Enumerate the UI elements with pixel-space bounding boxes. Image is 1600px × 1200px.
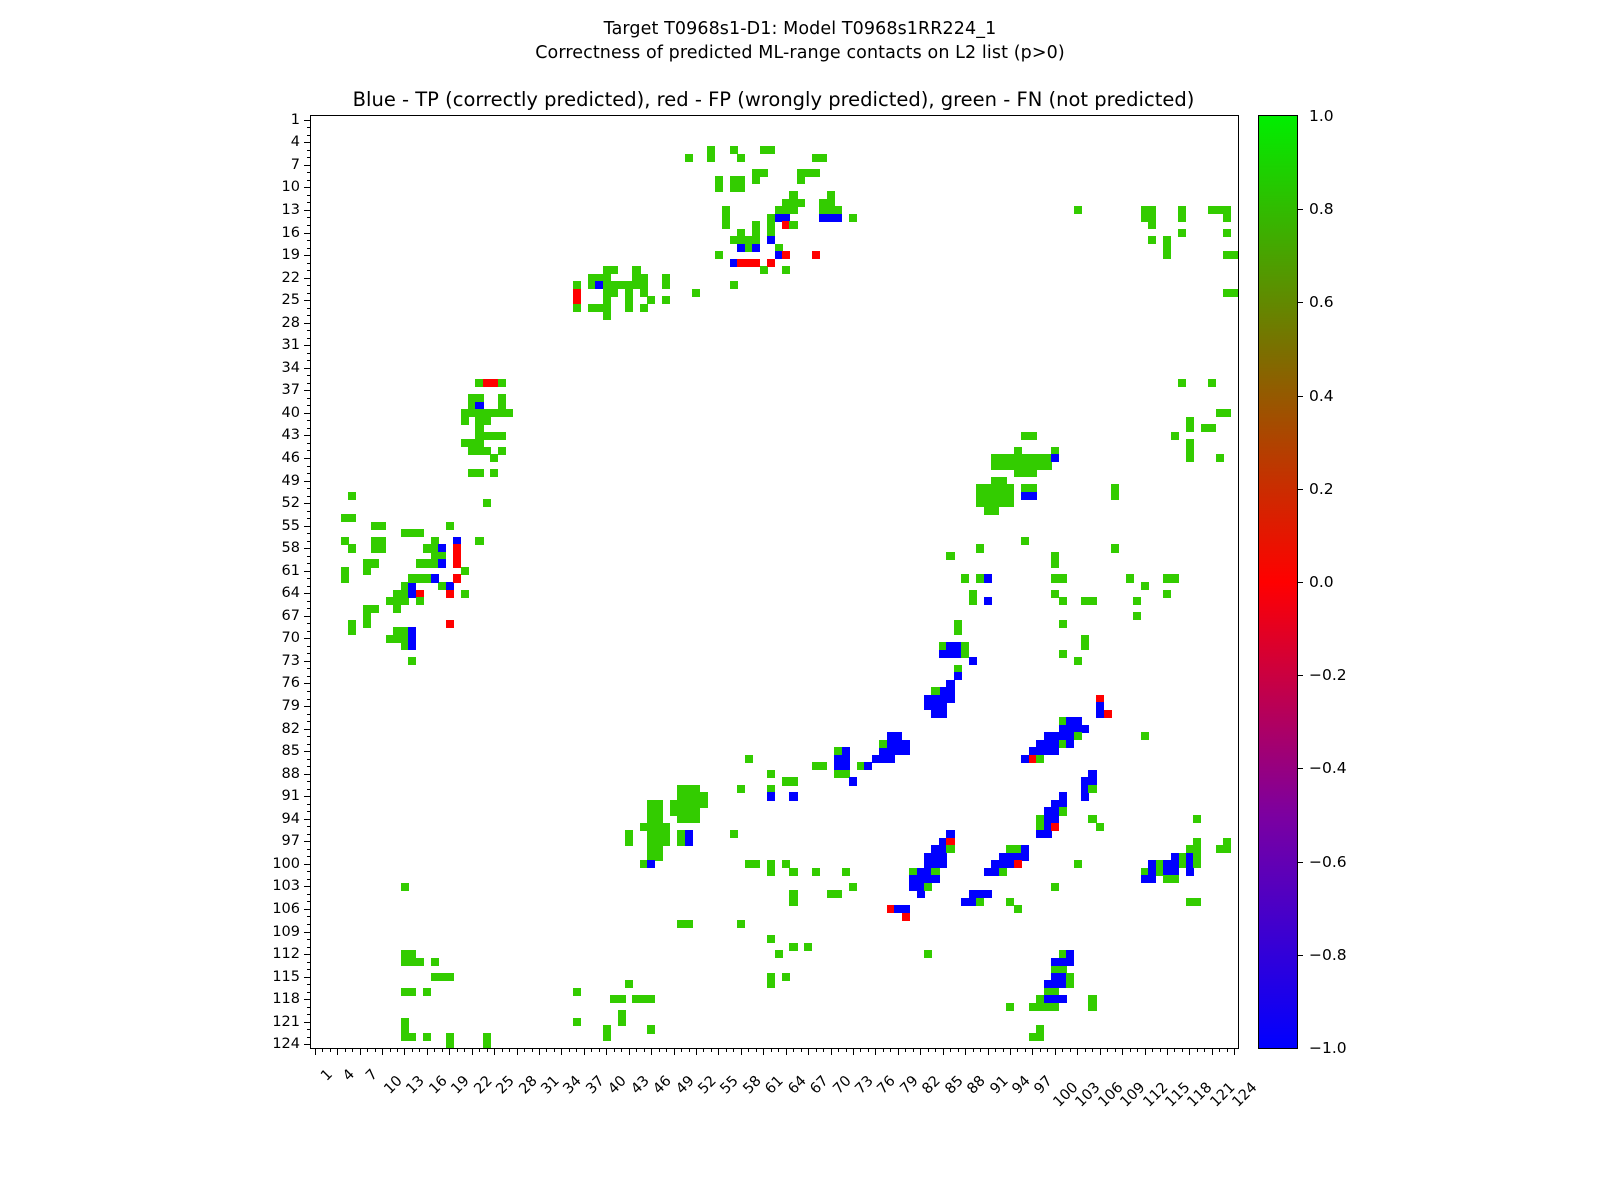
y-tick — [307, 1007, 311, 1008]
contact-cell — [782, 860, 790, 868]
contact-cell — [1014, 860, 1022, 868]
y-tick-label: 118 — [272, 991, 300, 1007]
x-tick-label: 82 — [920, 1073, 944, 1097]
x-tick — [472, 1048, 473, 1055]
x-tick — [868, 1048, 869, 1052]
contact-cell — [1096, 710, 1104, 718]
contact-cell — [730, 146, 738, 154]
y-tick — [307, 202, 311, 203]
x-tick-label: 19 — [449, 1073, 473, 1097]
y-tick-label: 13 — [282, 202, 300, 218]
contact-cell — [662, 281, 670, 289]
contact-cell — [408, 642, 416, 650]
contact-cell — [573, 1018, 581, 1026]
y-tick — [307, 1029, 311, 1030]
x-tick — [808, 1048, 809, 1055]
contact-cell — [1148, 221, 1156, 229]
colorbar-tick-label: 0.4 — [1309, 387, 1334, 405]
y-tick — [307, 180, 311, 181]
colorbar-tick — [1297, 209, 1303, 210]
y-tick — [307, 541, 311, 542]
y-tick — [307, 473, 311, 474]
contact-cell — [431, 958, 439, 966]
contact-cell — [1021, 537, 1029, 545]
x-tick-label: 52 — [695, 1073, 719, 1097]
contact-cell — [1036, 1033, 1044, 1041]
contact-cell — [1074, 732, 1082, 740]
contact-cell — [1223, 229, 1231, 237]
contact-cell — [423, 988, 431, 996]
contact-cell — [819, 762, 827, 770]
y-tick — [307, 916, 311, 917]
y-tick-label: 76 — [282, 675, 300, 691]
contact-cell — [1163, 251, 1171, 259]
contact-cell — [371, 559, 379, 567]
contact-cell — [1051, 454, 1059, 462]
contact-cell — [864, 762, 872, 770]
y-tick — [307, 924, 311, 925]
x-tick — [382, 1048, 383, 1055]
x-tick — [1130, 1048, 1131, 1052]
y-tick — [304, 142, 311, 143]
y-tick — [307, 947, 311, 948]
y-tick — [307, 195, 311, 196]
x-tick — [943, 1048, 944, 1055]
contact-cell — [954, 627, 962, 635]
x-tick-label: 22 — [471, 1073, 495, 1097]
contact-cell — [752, 176, 760, 184]
colorbar-tick — [1297, 582, 1303, 583]
x-tick — [898, 1048, 899, 1055]
x-tick — [1070, 1048, 1071, 1052]
x-tick-label: 4 — [340, 1067, 358, 1085]
contact-cell — [416, 958, 424, 966]
contact-cell — [446, 620, 454, 628]
x-tick — [1227, 1048, 1228, 1052]
contact-cell — [1163, 590, 1171, 598]
contact-cell — [1051, 883, 1059, 891]
x-tick — [442, 1048, 443, 1052]
x-tick — [763, 1048, 764, 1055]
x-tick — [419, 1048, 420, 1052]
colorbar-tick-label: 0.6 — [1309, 293, 1334, 311]
x-tick — [1137, 1048, 1138, 1052]
y-tick — [307, 420, 311, 421]
x-tick — [345, 1048, 346, 1052]
contact-cell — [1133, 597, 1141, 605]
y-tick — [304, 886, 311, 887]
contact-cell — [401, 883, 409, 891]
x-tick — [367, 1048, 368, 1052]
x-tick-label: 94 — [1009, 1073, 1033, 1097]
contact-cell — [767, 980, 775, 988]
y-tick — [307, 405, 311, 406]
contact-map-figure: Target T0968s1-D1: Model T0968s1RR224_1 … — [0, 0, 1600, 1200]
colorbar-tick-label: 1.0 — [1309, 107, 1334, 125]
y-tick — [304, 864, 311, 865]
x-tick — [390, 1048, 391, 1052]
x-tick-label: 31 — [538, 1073, 562, 1097]
colorbar-tick-label: −0.2 — [1309, 666, 1347, 684]
contact-cell — [767, 868, 775, 876]
contact-cell — [804, 943, 812, 951]
contact-cell — [789, 792, 797, 800]
contact-cell — [812, 868, 820, 876]
y-tick-label: 19 — [282, 247, 300, 263]
y-tick — [307, 450, 311, 451]
x-tick-label: 28 — [516, 1073, 540, 1097]
contact-cell — [416, 597, 424, 605]
x-tick — [360, 1048, 361, 1055]
contact-cell — [1088, 785, 1096, 793]
y-tick — [304, 323, 311, 324]
y-tick — [307, 714, 311, 715]
x-tick — [703, 1048, 704, 1052]
y-tick-label: 100 — [272, 856, 300, 872]
x-tick — [479, 1048, 480, 1052]
contact-cell — [692, 289, 700, 297]
x-tick — [1122, 1048, 1123, 1055]
y-tick — [307, 1014, 311, 1015]
contact-cell — [1231, 251, 1238, 259]
contact-cell — [401, 597, 409, 605]
contact-cell — [1059, 807, 1067, 815]
x-tick — [584, 1048, 585, 1055]
contact-map-plot-area[interactable]: 1471013161922252831343740434649525558616… — [310, 115, 1239, 1049]
y-tick — [307, 578, 311, 579]
y-tick-label: 7 — [291, 157, 300, 173]
y-tick — [307, 135, 311, 136]
contact-cell — [1021, 462, 1029, 470]
x-tick — [1174, 1048, 1175, 1052]
y-tick-label: 94 — [282, 811, 300, 827]
y-tick — [307, 375, 311, 376]
x-tick — [756, 1048, 757, 1052]
contact-map-cells — [311, 116, 1238, 1048]
y-tick — [307, 217, 311, 218]
contact-cell — [1006, 499, 1014, 507]
contact-cell — [625, 838, 633, 846]
contact-cell — [1178, 214, 1186, 222]
y-tick — [307, 353, 311, 354]
contact-cell — [789, 868, 797, 876]
contact-cell — [461, 417, 469, 425]
x-tick — [397, 1048, 398, 1052]
contact-cell — [1074, 860, 1082, 868]
y-tick — [307, 879, 311, 880]
x-tick — [1032, 1048, 1033, 1055]
colorbar-tick-label: −0.4 — [1309, 759, 1347, 777]
contact-cell — [849, 214, 857, 222]
y-tick-label: 115 — [272, 969, 300, 985]
y-tick-label: 61 — [282, 563, 300, 579]
contact-cell — [887, 755, 895, 763]
y-tick — [304, 503, 311, 504]
x-tick — [1040, 1048, 1041, 1052]
contact-cell — [1036, 755, 1044, 763]
y-tick-label: 1 — [291, 112, 300, 128]
contact-cell — [446, 522, 454, 530]
contact-cell — [1208, 379, 1216, 387]
contact-cell — [483, 1040, 491, 1048]
contact-cell — [902, 905, 910, 913]
contact-cell — [782, 266, 790, 274]
contact-cell — [1021, 853, 1029, 861]
contact-cell — [797, 176, 805, 184]
contact-cell — [453, 559, 461, 567]
x-tick — [831, 1048, 832, 1055]
contact-cell — [737, 920, 745, 928]
contact-cell — [976, 544, 984, 552]
y-tick — [307, 781, 311, 782]
y-tick — [307, 744, 311, 745]
y-tick — [307, 496, 311, 497]
y-tick — [304, 661, 311, 662]
contact-cell — [760, 169, 768, 177]
contact-cell — [1103, 710, 1111, 718]
contact-cell — [573, 304, 581, 312]
y-tick — [307, 225, 311, 226]
y-tick-label: 64 — [282, 585, 300, 601]
contact-cell — [730, 830, 738, 838]
x-tick — [711, 1048, 712, 1052]
y-tick — [307, 338, 311, 339]
x-tick — [1212, 1048, 1213, 1055]
contact-cell — [789, 943, 797, 951]
contact-cell — [1193, 815, 1201, 823]
y-tick — [307, 962, 311, 963]
y-tick-label: 109 — [272, 924, 300, 940]
x-tick — [509, 1048, 510, 1052]
y-tick — [304, 706, 311, 707]
y-tick — [307, 691, 311, 692]
contact-cell — [1006, 1003, 1014, 1011]
y-tick — [307, 856, 311, 857]
contact-cell — [341, 537, 349, 545]
contact-cell — [879, 740, 887, 748]
y-tick-label: 22 — [282, 270, 300, 286]
contact-cell — [498, 447, 506, 455]
contact-cell — [692, 815, 700, 823]
y-tick — [307, 631, 311, 632]
contact-cell — [931, 687, 939, 695]
contact-cell — [946, 845, 954, 853]
contact-cell — [1029, 432, 1037, 440]
contact-cell — [1186, 454, 1194, 462]
y-tick — [304, 120, 311, 121]
contact-cell — [1029, 469, 1037, 477]
x-tick — [457, 1048, 458, 1052]
y-tick — [307, 676, 311, 677]
x-tick — [1055, 1048, 1056, 1055]
x-tick — [778, 1048, 779, 1052]
y-tick — [307, 849, 311, 850]
contact-cell — [461, 567, 469, 575]
y-tick — [304, 233, 311, 234]
y-tick-label: 58 — [282, 540, 300, 556]
y-tick — [304, 1044, 311, 1045]
y-tick-label: 49 — [282, 473, 300, 489]
y-tick — [304, 954, 311, 955]
contact-cell — [760, 266, 768, 274]
contact-cell — [408, 1033, 416, 1041]
y-tick — [307, 586, 311, 587]
x-tick-label: 13 — [404, 1073, 428, 1097]
contact-cell — [797, 199, 805, 207]
contact-cell — [1014, 905, 1022, 913]
contact-cell — [348, 492, 356, 500]
contact-cell — [767, 770, 775, 778]
y-tick-label: 40 — [282, 405, 300, 421]
x-tick — [838, 1048, 839, 1052]
x-tick-label: 73 — [852, 1073, 876, 1097]
contact-cell — [446, 1040, 454, 1048]
contact-cell — [446, 590, 454, 598]
contact-cell — [393, 605, 401, 613]
x-tick — [322, 1048, 323, 1052]
x-tick — [517, 1048, 518, 1055]
contact-cell — [1148, 236, 1156, 244]
x-tick — [375, 1048, 376, 1052]
x-tick-label: 40 — [606, 1073, 630, 1097]
y-tick — [307, 398, 311, 399]
y-tick-label: 28 — [282, 315, 300, 331]
x-tick — [696, 1048, 697, 1055]
contact-cell — [1216, 454, 1224, 462]
x-tick — [532, 1048, 533, 1052]
y-tick — [307, 248, 311, 249]
contact-cell — [789, 898, 797, 906]
contact-cell — [812, 251, 820, 259]
y-tick — [304, 909, 311, 910]
x-tick — [733, 1048, 734, 1052]
contact-cell — [348, 544, 356, 552]
y-tick — [307, 315, 311, 316]
y-tick — [304, 526, 311, 527]
colorbar-tick — [1297, 768, 1303, 769]
colorbar[interactable]: 1.00.80.60.40.20.0−0.2−0.4−0.6−0.8−1.0 — [1258, 115, 1298, 1049]
colorbar-tick-label: 0.2 — [1309, 480, 1334, 498]
x-tick — [1107, 1048, 1108, 1052]
contact-cell — [1171, 432, 1179, 440]
contact-cell — [842, 868, 850, 876]
y-tick — [307, 939, 311, 940]
y-tick-label: 112 — [272, 946, 300, 962]
y-tick — [307, 766, 311, 767]
x-tick — [412, 1048, 413, 1052]
contact-cell — [625, 980, 633, 988]
y-tick — [307, 488, 311, 489]
y-tick — [304, 345, 311, 346]
contact-cell — [1193, 898, 1201, 906]
x-tick — [1152, 1048, 1153, 1052]
x-tick — [689, 1048, 690, 1052]
contact-cell — [812, 169, 820, 177]
y-tick — [307, 653, 311, 654]
y-tick — [307, 721, 311, 722]
y-tick-label: 34 — [282, 360, 300, 376]
y-tick — [307, 608, 311, 609]
contact-cell — [1081, 725, 1089, 733]
x-tick — [771, 1048, 772, 1052]
x-tick-label: 46 — [650, 1073, 674, 1097]
y-tick — [307, 826, 311, 827]
contact-cell — [423, 1033, 431, 1041]
y-tick — [307, 563, 311, 564]
colorbar-tick-label: −1.0 — [1309, 1039, 1347, 1057]
y-tick — [304, 999, 311, 1000]
contact-cell — [752, 244, 760, 252]
contact-cell — [917, 890, 925, 898]
x-tick — [427, 1048, 428, 1055]
contact-cell — [461, 590, 469, 598]
y-tick-label: 4 — [291, 134, 300, 150]
contact-cell — [505, 409, 513, 417]
contact-cell — [438, 559, 446, 567]
y-tick — [304, 548, 311, 549]
contact-cell — [737, 154, 745, 162]
y-tick — [307, 293, 311, 294]
y-tick — [307, 969, 311, 970]
x-tick — [591, 1048, 592, 1052]
x-tick — [973, 1048, 974, 1052]
contact-cell — [655, 853, 663, 861]
y-tick — [307, 789, 311, 790]
x-tick — [801, 1048, 802, 1052]
x-tick — [644, 1048, 645, 1052]
x-tick-label: 67 — [807, 1073, 831, 1097]
contact-cell — [371, 605, 379, 613]
x-tick — [823, 1048, 824, 1052]
contact-cell — [1059, 574, 1067, 582]
contact-cell — [976, 898, 984, 906]
y-tick-label: 46 — [282, 450, 300, 466]
contact-cell — [1208, 424, 1216, 432]
y-tick — [307, 127, 311, 128]
contact-cell — [647, 995, 655, 1003]
y-tick — [307, 601, 311, 602]
x-tick — [569, 1048, 570, 1052]
x-tick — [434, 1048, 435, 1052]
contact-cell — [1186, 424, 1194, 432]
title-line-2: Correctness of predicted ML-range contac… — [0, 42, 1600, 66]
y-tick — [307, 901, 311, 902]
x-tick — [404, 1048, 405, 1055]
x-tick-label: 76 — [875, 1073, 899, 1097]
contact-cell — [991, 507, 999, 515]
colorbar-tick-label: 0.8 — [1309, 200, 1334, 218]
contact-cell — [946, 552, 954, 560]
contact-cell — [902, 747, 910, 755]
y-tick-label: 70 — [282, 630, 300, 646]
contact-cell — [483, 417, 491, 425]
contact-cell — [767, 792, 775, 800]
contact-cell — [498, 379, 506, 387]
x-tick — [748, 1048, 749, 1052]
contact-cell — [490, 454, 498, 462]
contact-cell — [1171, 574, 1179, 582]
x-tick — [816, 1048, 817, 1052]
y-tick — [304, 751, 311, 752]
contact-cell — [1059, 650, 1067, 658]
contact-cell — [446, 973, 454, 981]
x-tick — [1025, 1048, 1026, 1052]
x-tick — [1100, 1048, 1101, 1055]
y-tick — [304, 1022, 311, 1023]
x-tick-label: 34 — [561, 1073, 585, 1097]
x-tick — [621, 1048, 622, 1052]
contact-cell — [1223, 214, 1231, 222]
